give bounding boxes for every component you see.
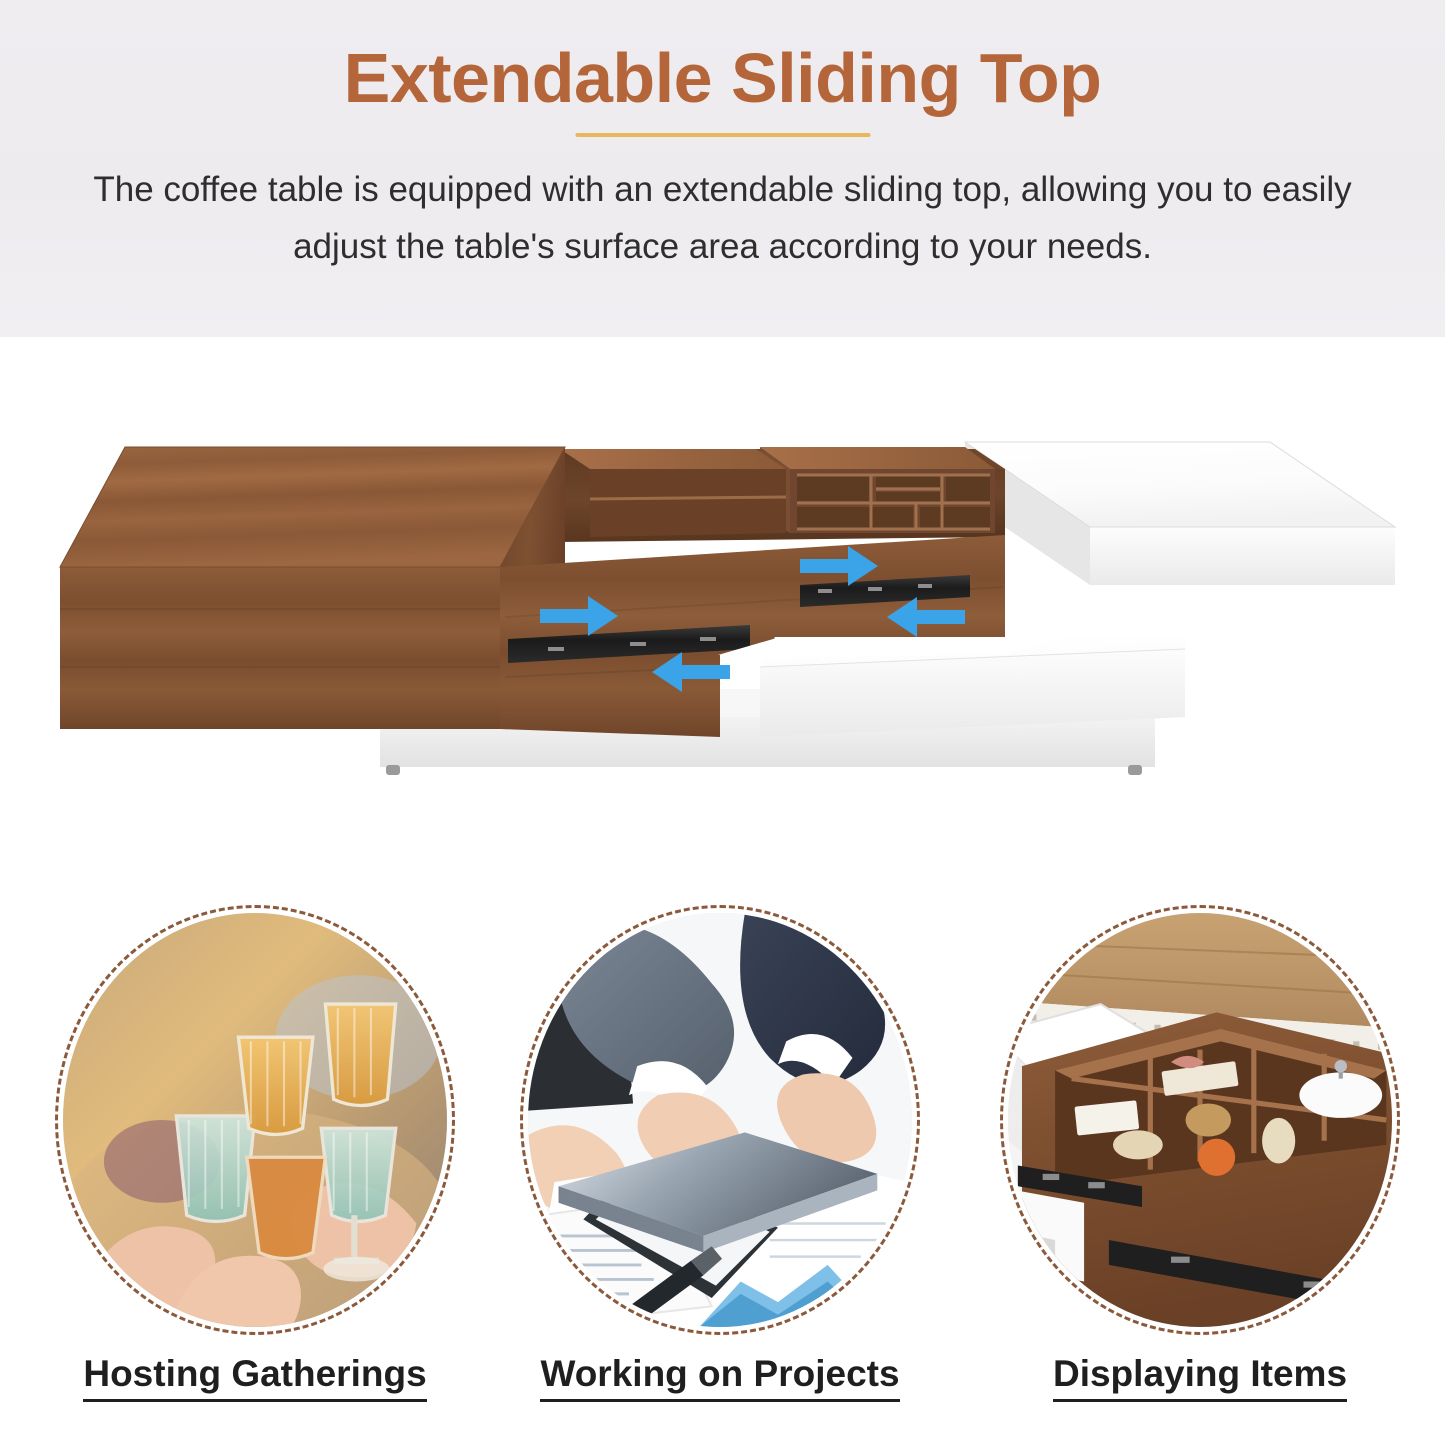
circle-frame <box>1000 905 1400 1335</box>
lifestyle-item-working-on-projects[interactable]: Working on Projects <box>520 905 920 1445</box>
lifestyle-item-hosting-gatherings[interactable]: Hosting Gatherings <box>55 905 455 1445</box>
page-subtitle: The coffee table is equipped with an ext… <box>93 162 1353 275</box>
lifestyle-caption-text: Displaying Items <box>1053 1353 1347 1402</box>
storage-icon <box>1008 913 1392 1327</box>
open-shelf-left <box>560 449 786 537</box>
white-sliding-top-right <box>965 442 1395 585</box>
circle-frame <box>520 905 920 1335</box>
storage-compartment-grid <box>560 447 995 537</box>
table-foot-left <box>386 765 400 775</box>
lifestyle-item-displaying-items[interactable]: Displaying Items <box>1000 905 1400 1445</box>
title-divider <box>575 133 870 137</box>
lifestyle-caption: Displaying Items <box>1000 1353 1400 1402</box>
walnut-sliding-top-left <box>60 447 565 729</box>
lifestyle-caption-text: Working on Projects <box>540 1353 899 1402</box>
tablet-icon <box>528 913 912 1327</box>
lifestyle-caption: Working on Projects <box>520 1353 920 1402</box>
lifestyle-caption-text: Hosting Gatherings <box>83 1353 426 1402</box>
cheers-icon <box>63 913 447 1327</box>
product-illustration <box>0 337 1445 882</box>
coffee-table-diagram <box>0 337 1445 882</box>
circle-frame <box>55 905 455 1335</box>
table-foot-right <box>1128 765 1142 775</box>
lifestyle-caption: Hosting Gatherings <box>55 1353 455 1402</box>
header-band: Extendable Sliding Top The coffee table … <box>0 0 1445 337</box>
page-title: Extendable Sliding Top <box>0 38 1445 118</box>
lifestyle-gallery: Hosting Gatherings <box>0 905 1445 1445</box>
